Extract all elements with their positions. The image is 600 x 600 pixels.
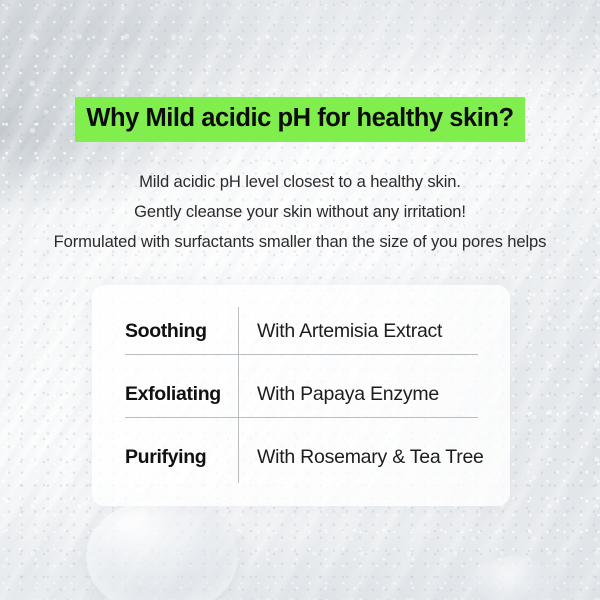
benefits-card: Soothing With Artemisia Extract Exfoliat… bbox=[92, 285, 510, 506]
subcopy-line-1: Mild acidic pH level closest to a health… bbox=[0, 167, 600, 197]
promo-poster: Why Mild acidic pH for healthy skin? Mil… bbox=[0, 0, 600, 600]
benefit-label: Exfoliating bbox=[92, 383, 239, 406]
table-row: Exfoliating With Papaya Enzyme bbox=[92, 363, 510, 425]
table-row: Soothing With Artemisia Extract bbox=[92, 300, 510, 362]
subcopy-line-3: Formulated with surfactants smaller than… bbox=[0, 227, 600, 257]
subcopy-line-2: Gently cleanse your skin without any irr… bbox=[0, 197, 600, 227]
benefit-value: With Papaya Enzyme bbox=[239, 383, 439, 406]
benefit-value: With Rosemary & Tea Tree bbox=[239, 446, 484, 469]
table-row: Purifying With Rosemary & Tea Tree bbox=[92, 426, 510, 488]
headline-container: Why Mild acidic pH for healthy skin? bbox=[0, 97, 600, 142]
benefit-label: Purifying bbox=[92, 446, 239, 469]
poster-content: Why Mild acidic pH for healthy skin? Mil… bbox=[0, 0, 600, 600]
page-title: Why Mild acidic pH for healthy skin? bbox=[75, 97, 524, 142]
benefit-label: Soothing bbox=[92, 320, 239, 343]
subcopy-block: Mild acidic pH level closest to a health… bbox=[0, 167, 600, 257]
benefit-value: With Artemisia Extract bbox=[239, 320, 442, 343]
benefits-table: Soothing With Artemisia Extract Exfoliat… bbox=[92, 285, 510, 506]
